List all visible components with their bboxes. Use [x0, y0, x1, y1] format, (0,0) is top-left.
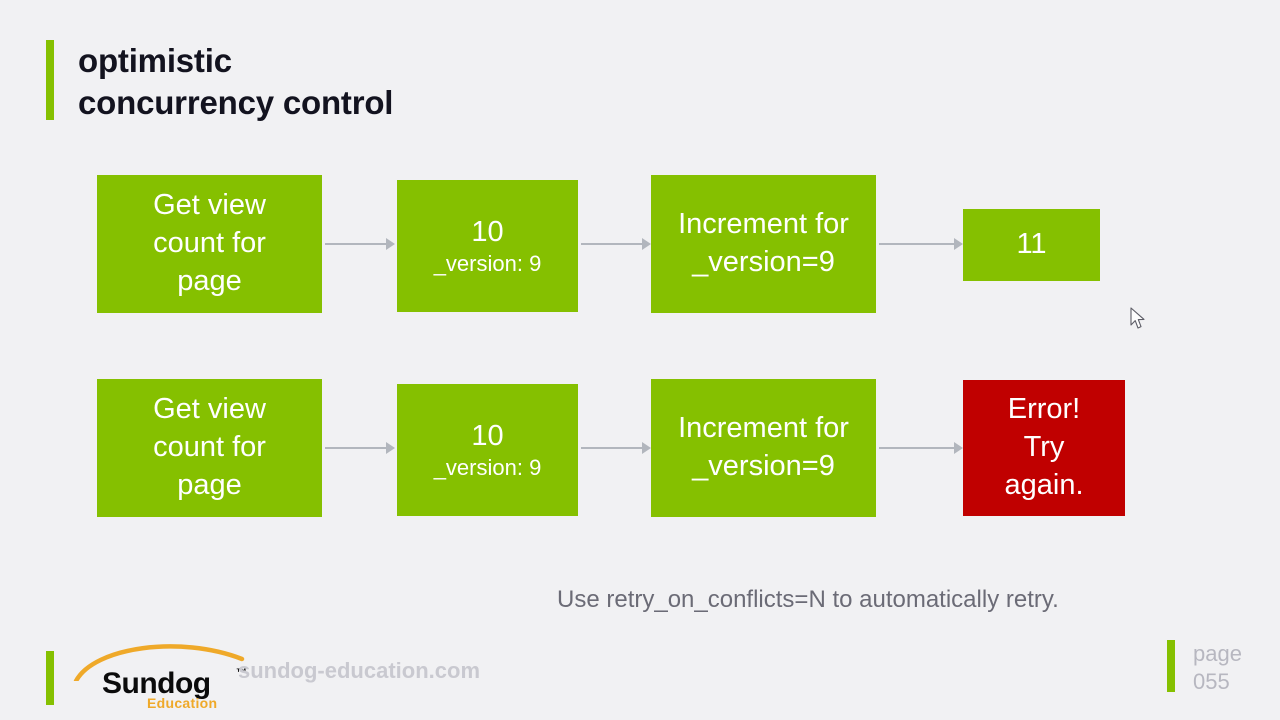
- footer-accent-bar: [46, 651, 54, 705]
- page-number-text: page 055: [1193, 640, 1242, 696]
- node-result-value[interactable]: 11: [963, 209, 1100, 281]
- title-text: optimistic concurrency control: [78, 40, 393, 124]
- node-current-value-1[interactable]: 10 _version: 9: [397, 180, 578, 312]
- node-sublabel: _version: 9: [434, 250, 542, 279]
- node-sublabel: _version: 9: [434, 454, 542, 483]
- node-label: 11: [1016, 226, 1046, 264]
- logo-subtitle: Education: [147, 695, 217, 711]
- mouse-cursor-icon: [1129, 307, 1147, 331]
- arrow-1-b: [581, 238, 651, 250]
- arrow-1-c: [879, 238, 963, 250]
- node-label: Increment for _version=9: [678, 206, 849, 281]
- node-label: Increment for _version=9: [678, 410, 849, 485]
- node-label: Get view count for page: [153, 391, 266, 504]
- arrow-2-b: [581, 442, 651, 454]
- arrow-1-a: [325, 238, 395, 250]
- node-label: 10: [471, 418, 503, 456]
- arrow-2-a: [325, 442, 395, 454]
- node-increment-op-1[interactable]: Increment for _version=9: [651, 175, 876, 313]
- node-get-view-count-2[interactable]: Get view count for page: [97, 379, 322, 517]
- node-label: Error! Try again.: [1004, 391, 1083, 504]
- caption-text: Use retry_on_conflicts=N to automaticall…: [557, 586, 1059, 614]
- footer-page-number: page 055: [1167, 640, 1242, 696]
- node-increment-op-2[interactable]: Increment for _version=9: [651, 379, 876, 517]
- node-label: 10: [471, 214, 503, 252]
- page-title: optimistic concurrency control: [46, 40, 393, 124]
- page-accent-bar: [1167, 640, 1175, 692]
- node-current-value-2[interactable]: 10 _version: 9: [397, 384, 578, 516]
- slide-canvas: optimistic concurrency control Get view …: [0, 0, 1280, 720]
- title-accent-bar: [46, 40, 54, 120]
- node-get-view-count-1[interactable]: Get view count for page: [97, 175, 322, 313]
- node-error-result[interactable]: Error! Try again.: [963, 380, 1125, 516]
- arrow-2-c: [879, 442, 963, 454]
- footer-website: sundog-education.com: [238, 658, 480, 684]
- sundog-logo: Sundog ™ Education: [70, 645, 248, 711]
- node-label: Get view count for page: [153, 187, 266, 300]
- footer-branding: Sundog ™ Education: [46, 645, 248, 711]
